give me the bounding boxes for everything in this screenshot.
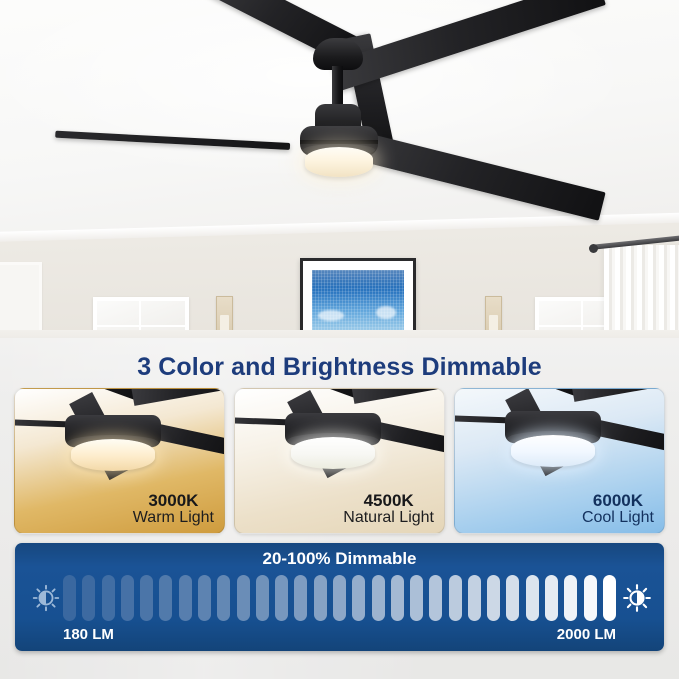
- brightness-bar[interactable]: [140, 575, 153, 621]
- dimmable-panel: 20-100% Dimmable 180 LM 2000 LM: [15, 543, 664, 651]
- brightness-bar[interactable]: [487, 575, 500, 621]
- section-title: 3 Color and Brightness Dimmable: [0, 353, 679, 382]
- brightness-bar[interactable]: [82, 575, 95, 621]
- brightness-low-sun-icon: [32, 584, 60, 612]
- color-temperature-panels: 3000K Warm Light 4500K Natural Light: [14, 388, 665, 534]
- brightness-bar[interactable]: [256, 575, 269, 621]
- brightness-bar[interactable]: [352, 575, 365, 621]
- panel-caption: 3000K Warm Light: [133, 492, 214, 527]
- panel-kelvin: 4500K: [343, 492, 434, 510]
- artwork-cloud: [318, 310, 344, 321]
- dimmable-title: 20-100% Dimmable: [15, 549, 664, 569]
- min-lumen-label: 180 LM: [63, 626, 114, 643]
- brightness-bar[interactable]: [314, 575, 327, 621]
- panel-kelvin: 3000K: [133, 492, 214, 510]
- brightness-bar[interactable]: [603, 575, 616, 621]
- brightness-gradient-bars[interactable]: [63, 575, 616, 621]
- mini-led-light: [71, 439, 155, 471]
- brightness-bar[interactable]: [63, 575, 76, 621]
- mini-led-light: [291, 437, 375, 469]
- brightness-bar[interactable]: [526, 575, 539, 621]
- hero-room-photo: [0, 0, 679, 345]
- mini-fan-blade: [352, 388, 445, 404]
- brightness-bar[interactable]: [275, 575, 288, 621]
- artwork-cloud: [376, 306, 396, 319]
- color-panel-cool[interactable]: 6000K Cool Light: [454, 388, 665, 534]
- brightness-bar[interactable]: [102, 575, 115, 621]
- brightness-bar[interactable]: [198, 575, 211, 621]
- sconce-shade: [220, 315, 229, 331]
- fan-blade-right: [341, 128, 605, 220]
- mini-fan-blade: [132, 388, 225, 406]
- brightness-bar[interactable]: [506, 575, 519, 621]
- panel-name: Warm Light: [133, 510, 214, 527]
- brightness-bar[interactable]: [159, 575, 172, 621]
- brightness-bar[interactable]: [237, 575, 250, 621]
- max-lumen-label: 2000 LM: [557, 626, 616, 643]
- brightness-bar[interactable]: [545, 575, 558, 621]
- brightness-bar[interactable]: [410, 575, 423, 621]
- brightness-bar[interactable]: [564, 575, 577, 621]
- brightness-bar[interactable]: [121, 575, 134, 621]
- brightness-bar[interactable]: [333, 575, 346, 621]
- window-mullion: [97, 325, 185, 327]
- brightness-bar[interactable]: [468, 575, 481, 621]
- panel-name: Natural Light: [343, 510, 434, 527]
- brightness-bar[interactable]: [217, 575, 230, 621]
- sconce-shade: [489, 315, 498, 331]
- brightness-bar[interactable]: [372, 575, 385, 621]
- mini-led-light: [511, 435, 595, 467]
- panel-caption: 6000K Cool Light: [582, 492, 654, 527]
- product-feature-image: 3 Color and Brightness Dimmable 3000K Wa…: [0, 0, 679, 679]
- panel-caption: 4500K Natural Light: [343, 492, 434, 527]
- panel-kelvin: 6000K: [582, 492, 654, 510]
- mini-fan-blade: [572, 388, 665, 402]
- brightness-bar[interactable]: [449, 575, 462, 621]
- brightness-bar[interactable]: [179, 575, 192, 621]
- fan-led-light: [305, 147, 373, 177]
- panel-name: Cool Light: [582, 510, 654, 527]
- fan-blade-left: [55, 131, 290, 150]
- color-panel-natural[interactable]: 4500K Natural Light: [234, 388, 445, 534]
- brightness-bar[interactable]: [391, 575, 404, 621]
- brightness-bar[interactable]: [294, 575, 307, 621]
- ceiling-fan: [0, 0, 679, 300]
- brightness-bar[interactable]: [584, 575, 597, 621]
- color-panel-warm[interactable]: 3000K Warm Light: [14, 388, 225, 534]
- brightness-bar[interactable]: [429, 575, 442, 621]
- brightness-high-sun-icon: [623, 584, 651, 612]
